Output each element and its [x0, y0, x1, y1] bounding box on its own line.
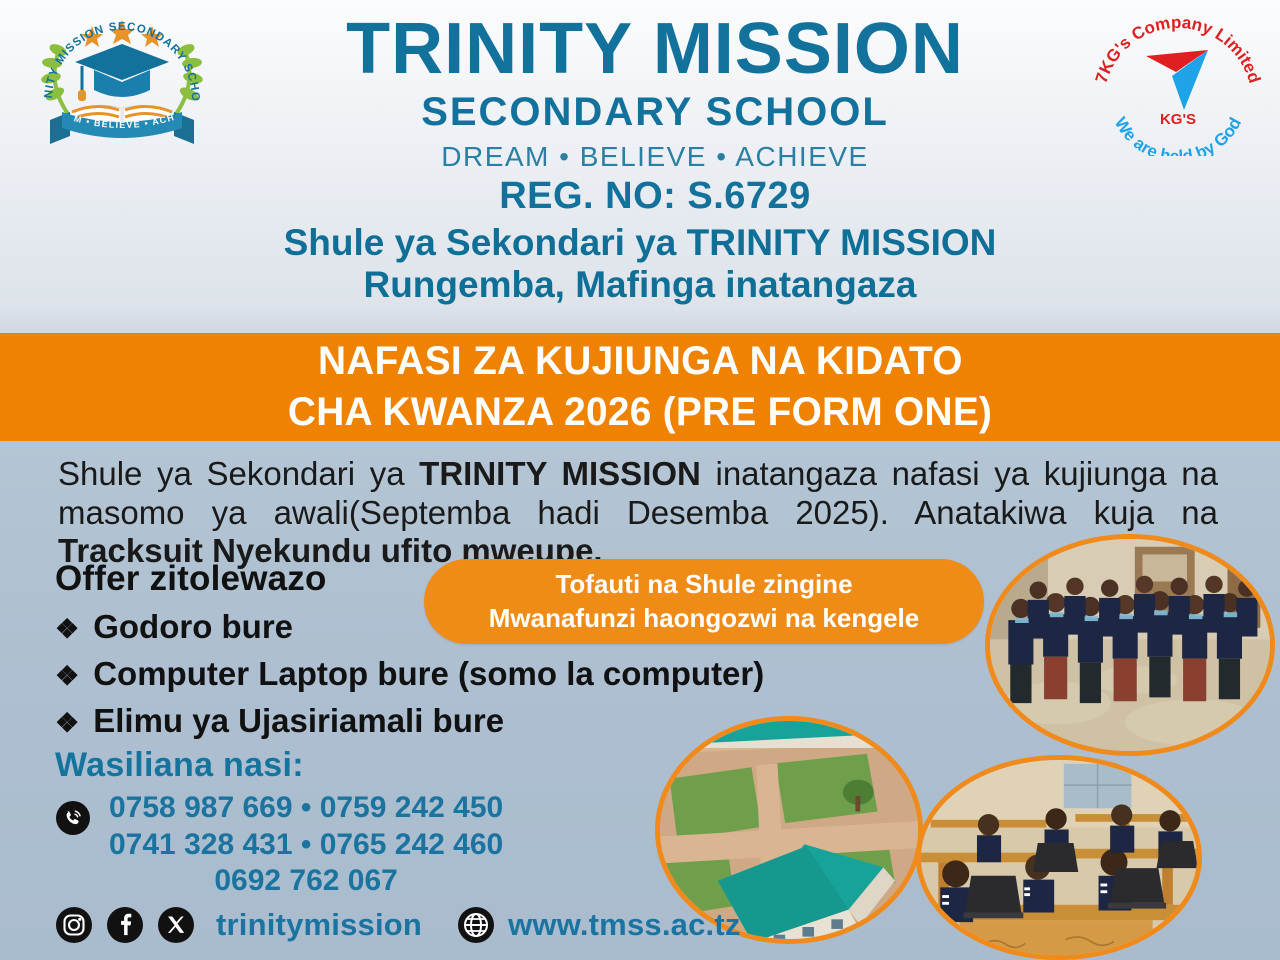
phone-line[interactable]: 0741 328 431 • 0765 242 460 — [109, 827, 503, 864]
offer-label: Elimu ya Ujasiriamali bure — [93, 702, 504, 740]
social-footer: trinitymission www.tmss.ac.tz — [55, 906, 741, 944]
list-item: ❖ Computer Laptop bure (somo la computer… — [55, 655, 955, 693]
diamond-bullet-icon: ❖ — [55, 614, 79, 645]
students-photo — [985, 534, 1275, 756]
intro-part-1: Shule ya Sekondari ya — [58, 455, 419, 492]
globe-icon — [457, 906, 495, 944]
highlight-badge: Tofauti na Shule zingine Mwanafunzi haon… — [424, 559, 984, 644]
phone-icon — [55, 800, 91, 836]
swahili-heading: Shule ya Sekondari ya TRINITY MISSION Ru… — [0, 222, 1280, 306]
intro-bold-1: TRINITY MISSION — [419, 455, 701, 492]
swahili-heading-line2: Rungemba, Mafinga inatangaza — [0, 264, 1280, 306]
graduation-cap-icon — [75, 44, 169, 101]
page-title: TRINITY MISSION — [225, 14, 1085, 85]
computer-lab-photo — [916, 755, 1202, 960]
contact-title: Wasiliana nasi: — [55, 746, 503, 785]
school-logo: TRINITY MISSION SECONDARY SCHOOL — [22, 8, 222, 148]
school-motto: DREAM • BELIEVE • ACHIEVE — [225, 141, 1085, 173]
poster-header: TRINITY MISSION SECONDARY SCHOOL — [0, 0, 1280, 333]
diamond-bullet-icon: ❖ — [55, 708, 79, 739]
facebook-icon[interactable] — [106, 906, 144, 944]
phone-line[interactable]: 0758 987 669 • 0759 242 450 — [109, 790, 503, 827]
registration-number: REG. NO: S.6729 — [225, 175, 1085, 218]
swahili-heading-line1: Shule ya Sekondari ya TRINITY MISSION — [0, 222, 1280, 264]
x-twitter-icon[interactable] — [157, 906, 195, 944]
diamond-bullet-icon: ❖ — [55, 661, 79, 692]
contact-section: Wasiliana nasi: 0758 987 669 • 0759 242 … — [55, 746, 503, 900]
company-logo: 7KG's Company Limited KG'S We are held b… — [1088, 6, 1268, 156]
title-block: TRINITY MISSION SECONDARY SCHOOL DREAM •… — [225, 14, 1085, 218]
banner-line-1: NAFASI ZA KUJIUNGA NA KIDATO — [318, 336, 963, 387]
page-subtitle: SECONDARY SCHOOL — [225, 89, 1085, 135]
offer-label: Computer Laptop bure (somo la computer) — [93, 655, 764, 693]
announcement-banner: NAFASI ZA KUJIUNGA NA KIDATO CHA KWANZA … — [0, 333, 1280, 441]
highlight-badge-line1: Tofauti na Shule zingine — [555, 568, 852, 602]
offer-label: Godoro bure — [93, 608, 293, 646]
instagram-icon[interactable] — [55, 906, 93, 944]
phone-numbers: 0758 987 669 • 0759 242 450 0741 328 431… — [109, 790, 503, 900]
banner-line-2: CHA KWANZA 2026 (PRE FORM ONE) — [288, 387, 992, 438]
highlight-badge-line2: Mwanafunzi haongozwi na kengele — [489, 602, 920, 636]
phone-line[interactable]: 0692 762 067 — [109, 863, 503, 900]
company-logo-mark-label: KG'S — [1160, 111, 1196, 128]
social-handle[interactable]: trinitymission — [216, 907, 422, 943]
arrow-mark-icon — [1146, 50, 1208, 110]
website-url[interactable]: www.tmss.ac.tz — [508, 907, 741, 943]
